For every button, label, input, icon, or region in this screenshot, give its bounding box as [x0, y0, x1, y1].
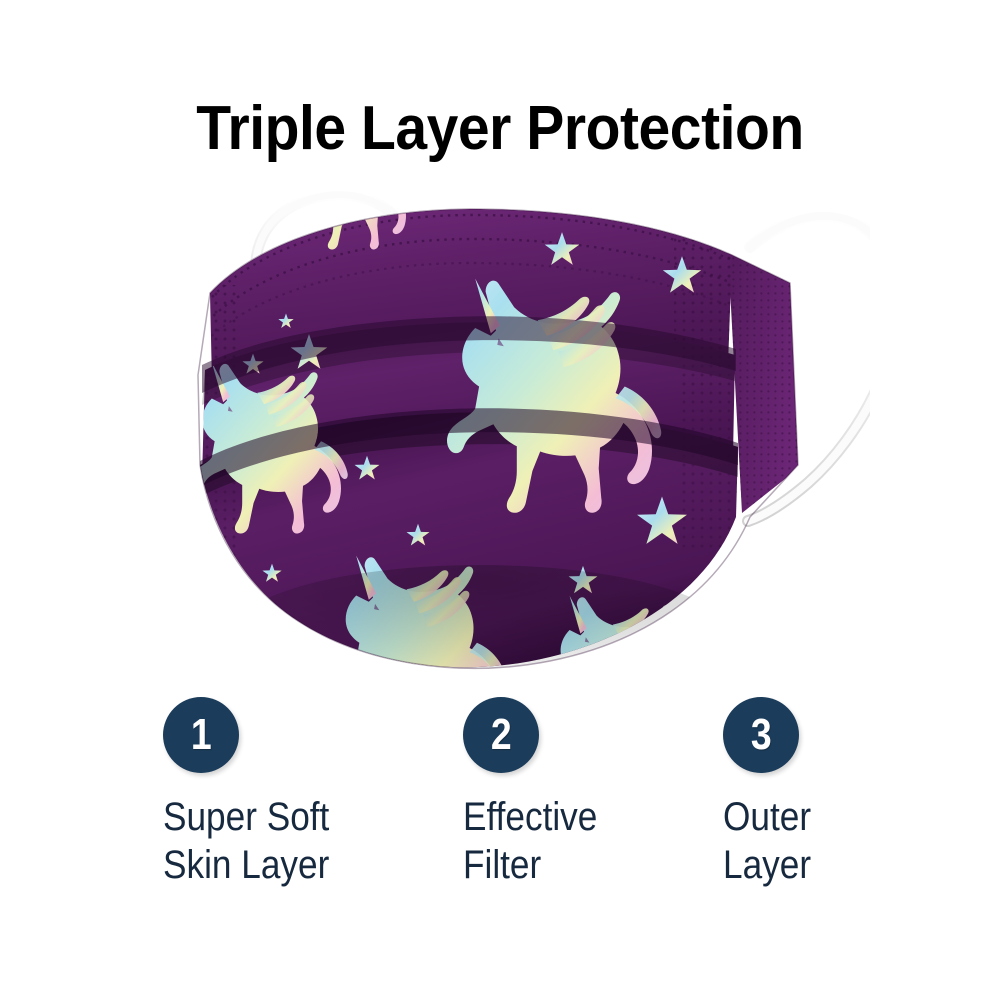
- step-badge-2: 2: [463, 697, 539, 773]
- infographic-page: Triple Layer Protection: [0, 0, 1000, 1000]
- feature-item-2: 2 Effective Filter: [463, 697, 763, 889]
- feature-label-2: Effective Filter: [463, 793, 727, 889]
- feature-item-3: 3 Outer Layer: [723, 697, 1000, 889]
- feature-list: 1 Super Soft Skin Layer 2 Effective Filt…: [0, 697, 1000, 897]
- feature-label-1: Super Soft Skin Layer: [163, 793, 427, 889]
- feature-item-1: 1 Super Soft Skin Layer: [163, 697, 463, 889]
- feature-label-3: Outer Layer: [723, 793, 987, 889]
- page-title: Triple Layer Protection: [40, 98, 960, 160]
- mask-svg: [150, 165, 870, 705]
- step-number-3: 3: [751, 713, 772, 757]
- product-mask-illustration: [150, 165, 870, 705]
- step-number-2: 2: [491, 713, 512, 757]
- step-badge-3: 3: [723, 697, 799, 773]
- step-badge-1: 1: [163, 697, 239, 773]
- step-number-1: 1: [191, 713, 212, 757]
